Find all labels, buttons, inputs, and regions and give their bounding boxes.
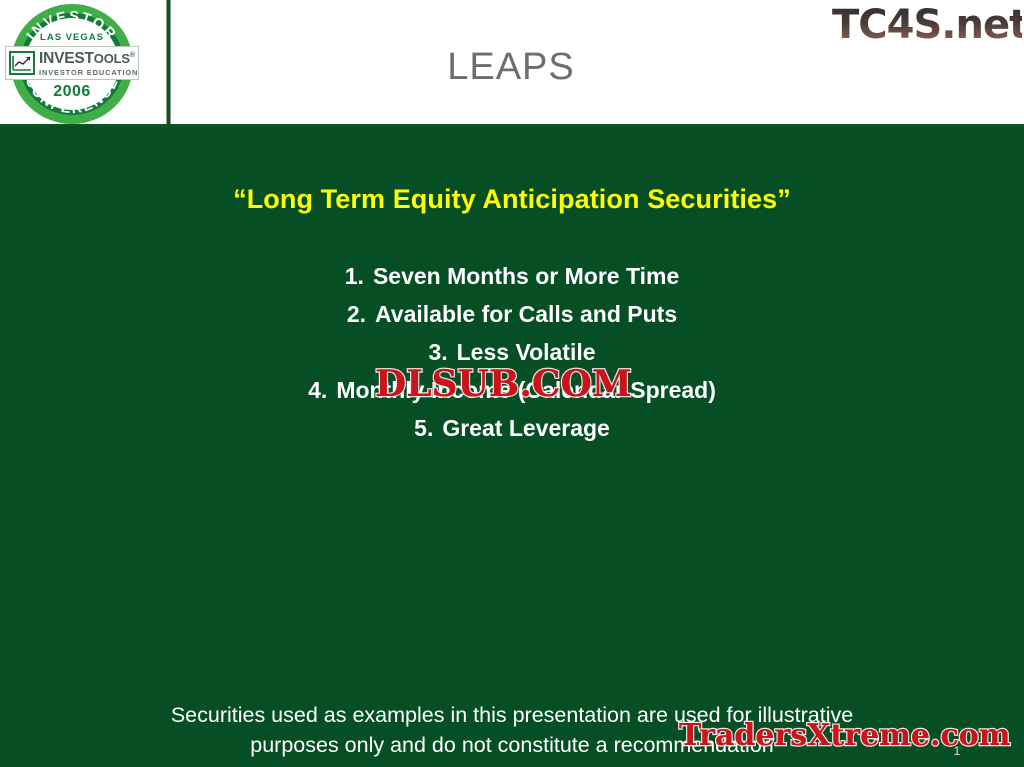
seal-city-label: LAS VEGAS: [11, 32, 133, 43]
list-item: 5.Great Leverage: [0, 409, 1024, 447]
tc4s-net-wordmark: TC4S.net: [832, 2, 1022, 48]
leaps-feature-list: 1.Seven Months or More Time 2.Available …: [0, 257, 1024, 447]
investools-conference-seal-logo: INVESTOR CONFERENCE LAS VEGAS: [11, 4, 133, 124]
chart-icon: [9, 51, 35, 75]
slide-body-panel: “Long Term Equity Anticipation Securitie…: [0, 127, 1024, 767]
watermark-tradersxtreme-fill: TradersXtreme.com: [679, 718, 1010, 753]
list-item-label: Less Volatile: [448, 339, 596, 365]
list-item-number: 3.: [428, 339, 447, 365]
seal-brand-plate: INVESTOOLS® INVESTOR EDUCATION: [5, 46, 139, 80]
list-item-label: Great Leverage: [433, 415, 609, 441]
content-headline: “Long Term Equity Anticipation Securitie…: [0, 183, 1024, 215]
seal-brand-wordmark: INVESTOOLS®: [39, 48, 138, 67]
registered-mark-icon: ®: [130, 52, 135, 59]
seal-brand-lower: OOLS: [94, 52, 130, 67]
list-item-label: Seven Months or More Time: [364, 263, 679, 289]
seal-brand-tagline: INVESTOR EDUCATION: [39, 68, 138, 78]
page-title: LEAPS: [171, 46, 851, 88]
list-item: 2.Available for Calls and Puts: [0, 295, 1024, 333]
list-item-label: Available for Calls and Puts: [366, 301, 677, 327]
list-item-number: 2.: [347, 301, 366, 327]
seal-year-label: 2006: [11, 83, 133, 101]
seal-brand-caps: INVEST: [39, 51, 94, 68]
watermark-dlsub: DLSUB.COM DLSUB.COM: [375, 363, 632, 405]
list-item-number: 1.: [345, 263, 364, 289]
tc4s-net-logo: TC4S.net: [832, 2, 1022, 48]
list-item-number: 5.: [414, 415, 433, 441]
seal-brand-text: INVESTOOLS® INVESTOR EDUCATION: [35, 48, 138, 77]
watermark-dlsub-fill: DLSUB.COM: [375, 363, 632, 405]
header-vertical-divider: [166, 0, 171, 127]
list-item: 1.Seven Months or More Time: [0, 257, 1024, 295]
list-item-number: 4.: [308, 377, 327, 403]
slide-header: INVESTOR CONFERENCE LAS VEGAS: [0, 0, 1024, 127]
watermark-tradersxtreme: TradersXtreme.com TradersXtreme.com: [679, 718, 1010, 753]
slide-root: INVESTOR CONFERENCE LAS VEGAS: [0, 0, 1024, 767]
